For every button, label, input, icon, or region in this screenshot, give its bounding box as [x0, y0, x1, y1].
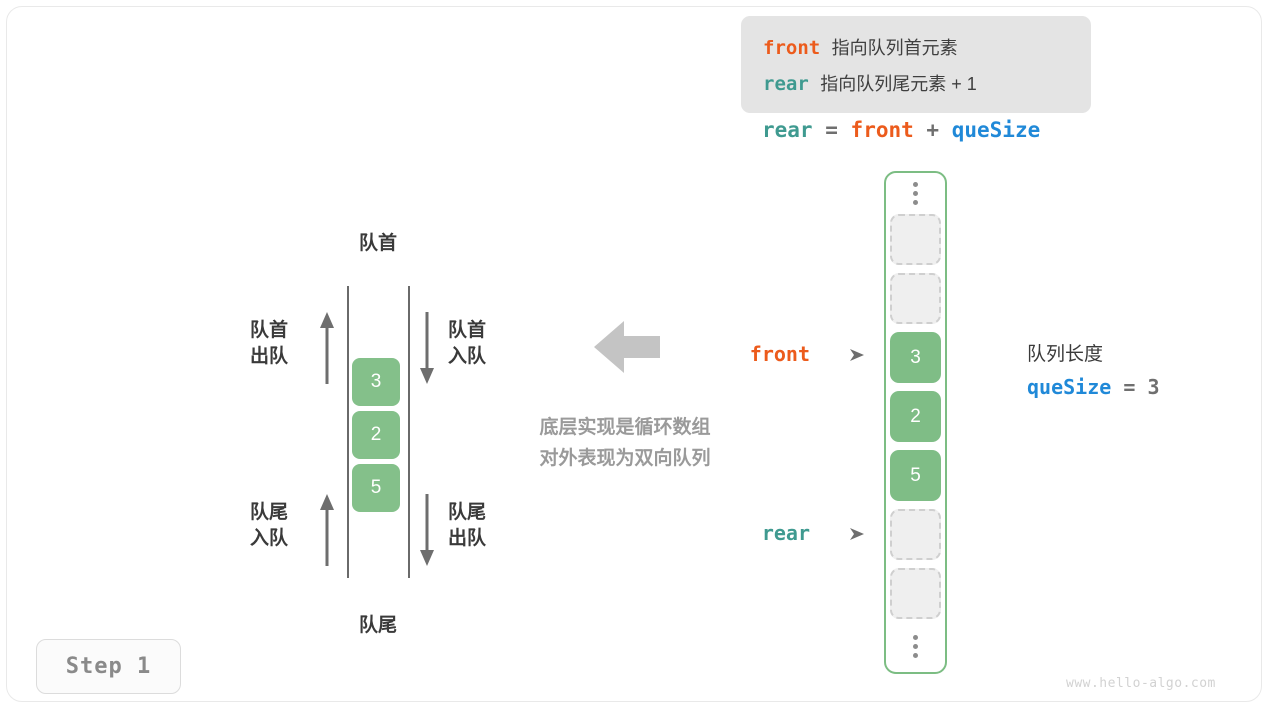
- label-head-dequeue-line1: 队首: [250, 318, 288, 344]
- deque-cell-0-value: 3: [371, 371, 382, 393]
- legend-rear-symbol: rear: [763, 73, 809, 95]
- label-head-dequeue: 队首 出队: [250, 318, 288, 370]
- implementation-note-line2: 对外表现为双向队列: [500, 443, 750, 474]
- label-tail-enqueue-line2: 入队: [250, 526, 288, 552]
- array-cell-6: [890, 568, 941, 619]
- queue-size-expression: queSize = 3: [1027, 370, 1159, 404]
- array-bottom-ellipsis-icon: [909, 635, 922, 658]
- legend-rear-text: 指向队列尾元素 + 1: [820, 74, 977, 94]
- rear-pointer-arrow-icon: [848, 525, 866, 543]
- queue-size-value: 3: [1147, 375, 1159, 399]
- label-tail-dequeue-line1: 队尾: [448, 500, 486, 526]
- label-head-enqueue-line2: 入队: [448, 344, 486, 370]
- queue-size-var: queSize: [1027, 375, 1111, 399]
- step-badge: Step 1: [36, 639, 181, 694]
- label-tail-enqueue-line1: 队尾: [250, 500, 288, 526]
- array-cell-4: 5: [890, 450, 941, 501]
- array-cell-3-value: 2: [910, 406, 921, 428]
- array-cell-3: 2: [890, 391, 941, 442]
- array-cell-5: [890, 509, 941, 560]
- legend-line-front: front 指向队列首元素: [763, 30, 1069, 66]
- arrow-head-enqueue-down-icon: [416, 312, 438, 384]
- implementation-note-line1: 底层实现是循环数组: [500, 412, 750, 443]
- deque-cell-1: 2: [352, 411, 400, 459]
- array-cell-4-value: 5: [910, 465, 921, 487]
- arrow-tail-enqueue-up-icon: [316, 494, 338, 566]
- front-pointer-label: front: [700, 342, 810, 366]
- deque-head-label: 队首: [318, 228, 438, 255]
- queue-size-title: 队列长度: [1027, 340, 1159, 370]
- arrow-head-dequeue-up-icon: [316, 312, 338, 384]
- legend-front-symbol: front: [763, 37, 820, 59]
- legend-line-rear: rear 指向队列尾元素 + 1: [763, 66, 1069, 102]
- label-head-dequeue-line2: 出队: [250, 344, 288, 370]
- step-badge-label: Step 1: [66, 654, 151, 679]
- implementation-arrow-icon: [594, 321, 660, 373]
- label-tail-dequeue: 队尾 出队: [448, 500, 486, 552]
- pointer-legend-panel: front 指向队列首元素 rear 指向队列尾元素 + 1: [741, 16, 1091, 113]
- rear-formula: rear = front + queSize: [762, 118, 1040, 142]
- label-tail-dequeue-line2: 出队: [448, 526, 486, 552]
- deque-cell-1-value: 2: [371, 424, 382, 446]
- formula-rhs-quesize: queSize: [952, 118, 1041, 142]
- deque-tail-label: 队尾: [318, 610, 438, 637]
- formula-rhs-front: front: [851, 118, 914, 142]
- diagram-canvas: front 指向队列首元素 rear 指向队列尾元素 + 1 rear = fr…: [0, 0, 1280, 720]
- formula-plus: +: [926, 118, 939, 142]
- label-head-enqueue: 队首 入队: [448, 318, 486, 370]
- array-top-ellipsis-icon: [909, 182, 922, 205]
- deque-cell-0: 3: [352, 358, 400, 406]
- label-head-enqueue-line1: 队首: [448, 318, 486, 344]
- arrow-tail-dequeue-down-icon: [416, 494, 438, 566]
- label-tail-enqueue: 队尾 入队: [250, 500, 288, 552]
- formula-equals: =: [825, 118, 838, 142]
- deque-rail-right: [408, 286, 410, 578]
- formula-lhs: rear: [762, 118, 813, 142]
- deque-cell-2-value: 5: [371, 477, 382, 499]
- queue-size-equals: =: [1123, 375, 1135, 399]
- legend-front-text: 指向队列首元素: [832, 38, 958, 58]
- footer-url: www.hello-algo.com: [1066, 676, 1216, 691]
- implementation-note: 底层实现是循环数组 对外表现为双向队列: [500, 412, 750, 474]
- array-cell-2: 3: [890, 332, 941, 383]
- array-cell-0: [890, 214, 941, 265]
- array-cell-1: [890, 273, 941, 324]
- rear-pointer-label: rear: [700, 521, 810, 545]
- queue-size-note: 队列长度 queSize = 3: [1027, 340, 1159, 404]
- deque-cell-2: 5: [352, 464, 400, 512]
- deque-rail-left: [347, 286, 349, 578]
- front-pointer-arrow-icon: [848, 346, 866, 364]
- array-cell-2-value: 3: [910, 347, 921, 369]
